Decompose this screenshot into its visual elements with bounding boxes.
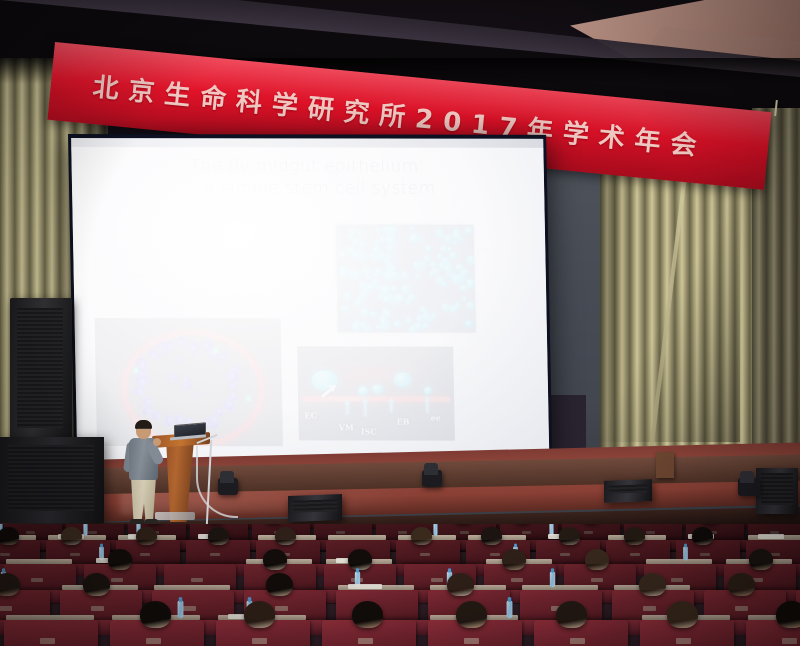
nucleus	[447, 247, 452, 252]
projection-screen-frame: The fly midgut epithelium: a simple stem…	[68, 134, 552, 465]
nucleus	[358, 231, 364, 236]
seat-desk	[328, 535, 386, 540]
pa-subwoofer	[0, 437, 104, 523]
auditorium-scene: 北京生命科学研究所2017年学术年会 The fly midgut epithe…	[0, 0, 800, 646]
nucleus	[401, 285, 411, 294]
label-isc: ISC	[361, 426, 377, 436]
audience-member	[275, 527, 296, 545]
nucleus	[409, 234, 419, 243]
pa-speaker-tall	[10, 298, 72, 448]
presenter-legs	[131, 477, 156, 521]
seat-desk	[646, 559, 712, 564]
water-bottle	[683, 546, 688, 560]
audience-member	[140, 601, 171, 628]
audience-member	[639, 573, 666, 596]
nucleus	[466, 255, 476, 264]
cell-ee	[424, 387, 432, 395]
nucleus	[355, 300, 362, 307]
nucleus	[428, 272, 433, 277]
water-bottle	[433, 524, 437, 536]
nucleus-inner	[194, 392, 200, 396]
presenter	[125, 422, 161, 524]
water-bottle	[550, 572, 555, 588]
audience-member	[348, 549, 372, 570]
audience-member	[502, 549, 526, 570]
nucleus	[362, 267, 371, 276]
nucleus	[375, 267, 383, 275]
nucleus	[359, 290, 368, 298]
nucleus	[449, 305, 457, 312]
water-bottle	[178, 601, 184, 619]
audience-member	[585, 549, 609, 570]
nucleus	[352, 323, 362, 332]
nucleus	[391, 285, 398, 291]
audience-member	[447, 573, 474, 596]
nucleus	[361, 308, 371, 317]
audience-member	[456, 601, 487, 628]
audience-member	[136, 527, 157, 545]
seat-desk	[6, 615, 94, 620]
nucleus	[462, 296, 468, 301]
slide-title-line2: a simple stem cell system	[190, 178, 490, 200]
nucleus	[384, 312, 391, 318]
slide-title: The fly midgut epithelium: a simple stem…	[189, 156, 490, 200]
nucleus	[395, 295, 404, 303]
label-vm: VM	[339, 422, 354, 432]
nucleus	[441, 257, 451, 266]
arrow-ee	[426, 399, 428, 413]
nuclei-field-micrograph	[336, 224, 476, 332]
arrow-vm	[346, 402, 348, 414]
audience-member	[108, 549, 132, 570]
nucleus	[344, 292, 352, 299]
audience-member	[624, 527, 645, 545]
nucleus	[465, 227, 474, 235]
green-marker	[213, 348, 218, 353]
audience-member	[0, 527, 19, 545]
presenter-glasses	[137, 428, 150, 432]
audience-member	[692, 527, 713, 545]
auditorium-seat[interactable]	[4, 620, 98, 646]
audience-member	[776, 601, 800, 628]
nucleus-inner	[183, 379, 188, 383]
moving-head-light-3	[738, 478, 760, 496]
audience-member	[266, 573, 293, 596]
audience-member	[61, 527, 82, 545]
floor-equipment	[155, 512, 195, 520]
audience-member	[728, 573, 755, 596]
nucleus	[456, 264, 464, 271]
cell-eb	[372, 384, 383, 393]
audience-member	[244, 601, 275, 628]
nucleus	[430, 262, 436, 268]
nucleus	[394, 320, 402, 327]
water-bottle	[507, 601, 513, 619]
nucleus	[409, 326, 417, 333]
nucleus	[366, 283, 374, 291]
epithelium-section-micrograph: EC VM ISC EB ee	[297, 346, 455, 440]
nucleus	[357, 250, 366, 258]
nucleus	[386, 237, 394, 244]
label-eb: EB	[396, 417, 409, 427]
nucleus	[415, 274, 420, 279]
audience-member	[208, 527, 229, 545]
nucleus	[340, 269, 349, 277]
nucleus	[390, 265, 396, 270]
stage-monitor-left	[288, 494, 342, 522]
nucleus	[452, 231, 461, 239]
arrow-isc	[364, 400, 366, 416]
nucleus	[400, 272, 409, 280]
nucleus	[352, 238, 360, 245]
cell-isc	[358, 386, 368, 395]
nucleus	[339, 250, 348, 258]
nucleus	[410, 225, 416, 230]
presenter-hand	[153, 438, 161, 446]
nucleus	[466, 302, 475, 310]
audience-member	[481, 527, 502, 545]
presenter-laptop	[170, 423, 204, 442]
nucleus	[406, 317, 413, 323]
arrow-eb	[390, 401, 392, 413]
nucleus	[389, 225, 398, 233]
nucleus	[372, 246, 381, 254]
nucleus	[383, 295, 392, 303]
nucleus	[452, 276, 462, 285]
stage-monitor-center	[604, 479, 652, 503]
nucleus	[379, 236, 386, 242]
nucleus	[430, 313, 436, 319]
seat-desk	[6, 559, 72, 564]
nucleus	[348, 247, 355, 253]
audience-member	[667, 601, 698, 628]
nucleus	[381, 319, 388, 326]
cell-ec2	[394, 373, 412, 387]
paper-handout	[348, 584, 382, 589]
seat-desk	[154, 585, 230, 590]
nucleus	[342, 305, 350, 312]
nucleus	[423, 323, 429, 328]
fly-gut-diagram	[91, 226, 342, 298]
label-ec: EC	[304, 410, 317, 420]
nucleus-inner	[169, 374, 176, 380]
audience-member	[352, 601, 383, 628]
screen-top-edge	[71, 138, 543, 148]
nucleus	[466, 279, 476, 288]
nucleus	[370, 312, 376, 318]
nucleus	[425, 246, 431, 251]
audience-member	[749, 549, 773, 570]
nucleus	[449, 252, 457, 259]
audience-member	[559, 527, 580, 545]
audience-member	[556, 601, 587, 628]
stage-stool	[656, 452, 674, 478]
nucleus	[465, 321, 471, 327]
projection-screen: The fly midgut epithelium: a simple stem…	[71, 138, 549, 461]
nucleus	[386, 244, 393, 251]
audience-member	[83, 573, 110, 596]
audience-member	[411, 527, 432, 545]
nucleus	[351, 271, 361, 280]
nucleus	[359, 241, 367, 248]
green-marker	[134, 368, 139, 373]
nucleus	[423, 313, 430, 319]
moving-head-light-2	[422, 470, 442, 487]
seat-desk	[522, 585, 598, 590]
nucleus	[366, 275, 371, 280]
stage-monitor-right	[756, 468, 798, 514]
label-ee: ee	[430, 413, 440, 423]
audience-member	[263, 549, 287, 570]
nucleus-inner	[182, 383, 188, 388]
slide-title-line1: The fly midgut epithelium:	[189, 156, 425, 176]
nucleus	[413, 262, 419, 268]
audience-seating	[0, 524, 800, 646]
nucleus	[376, 228, 382, 233]
paper-handout	[758, 534, 785, 539]
nucleus	[435, 229, 444, 237]
green-marker	[246, 396, 251, 401]
nucleus	[405, 299, 411, 304]
